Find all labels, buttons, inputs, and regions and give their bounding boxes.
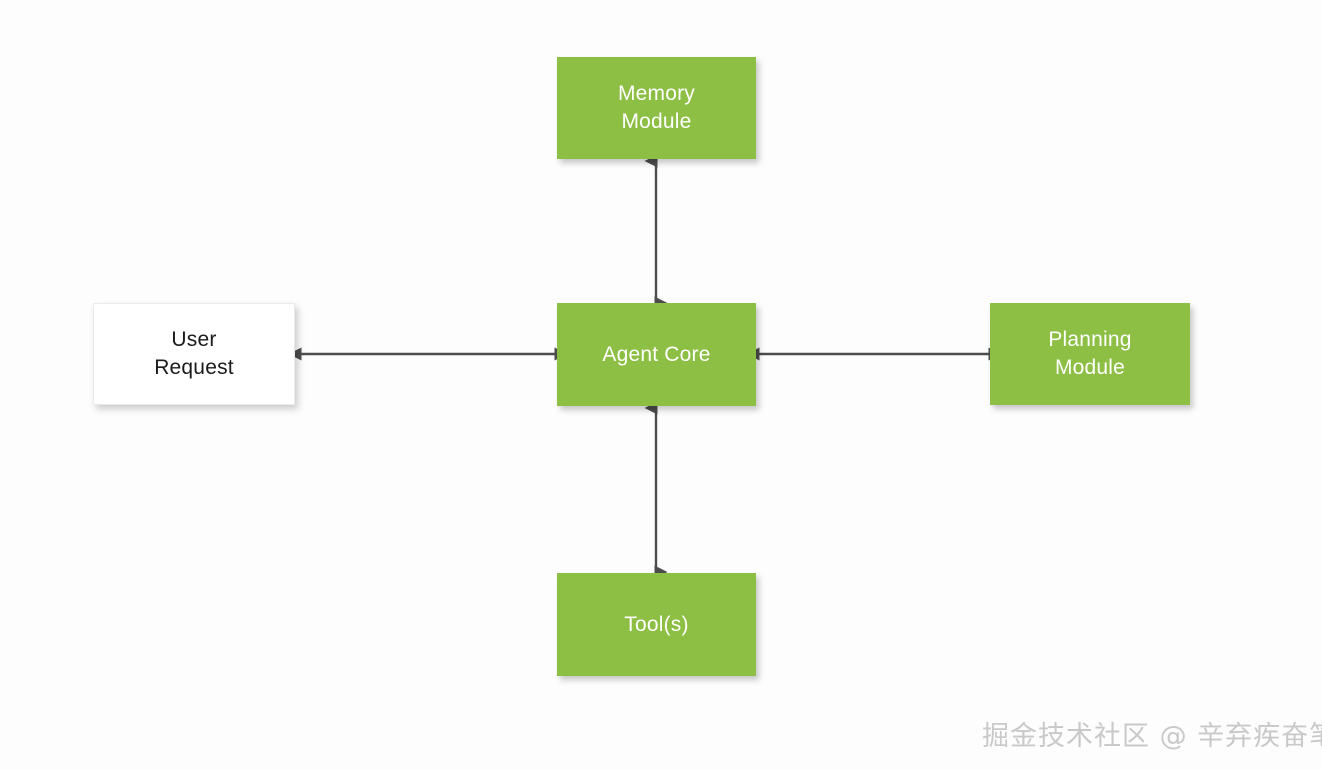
connector-core-memory xyxy=(614,148,698,316)
connector-core-user xyxy=(287,330,569,378)
node-memory-module-label: Memory Module xyxy=(618,80,695,135)
node-planning-module-label: Planning Module xyxy=(1048,326,1131,381)
watermark: 掘金技术社区 @ 辛弃疾奋笔 xyxy=(982,714,1322,753)
node-planning-module[interactable]: Planning Module xyxy=(990,303,1190,405)
node-agent-core[interactable]: Agent Core xyxy=(557,303,756,406)
connector-core-tools xyxy=(614,395,698,585)
node-user-request[interactable]: User Request xyxy=(93,303,295,405)
diagram-canvas: Memory Module Agent Core Tool(s) User Re… xyxy=(0,0,1322,770)
connector-core-planning xyxy=(745,330,1003,378)
node-agent-core-label: Agent Core xyxy=(602,341,710,369)
node-user-request-label: User Request xyxy=(154,326,234,381)
node-memory-module[interactable]: Memory Module xyxy=(557,57,756,159)
node-tools-label: Tool(s) xyxy=(624,611,688,639)
node-tools[interactable]: Tool(s) xyxy=(557,573,756,676)
